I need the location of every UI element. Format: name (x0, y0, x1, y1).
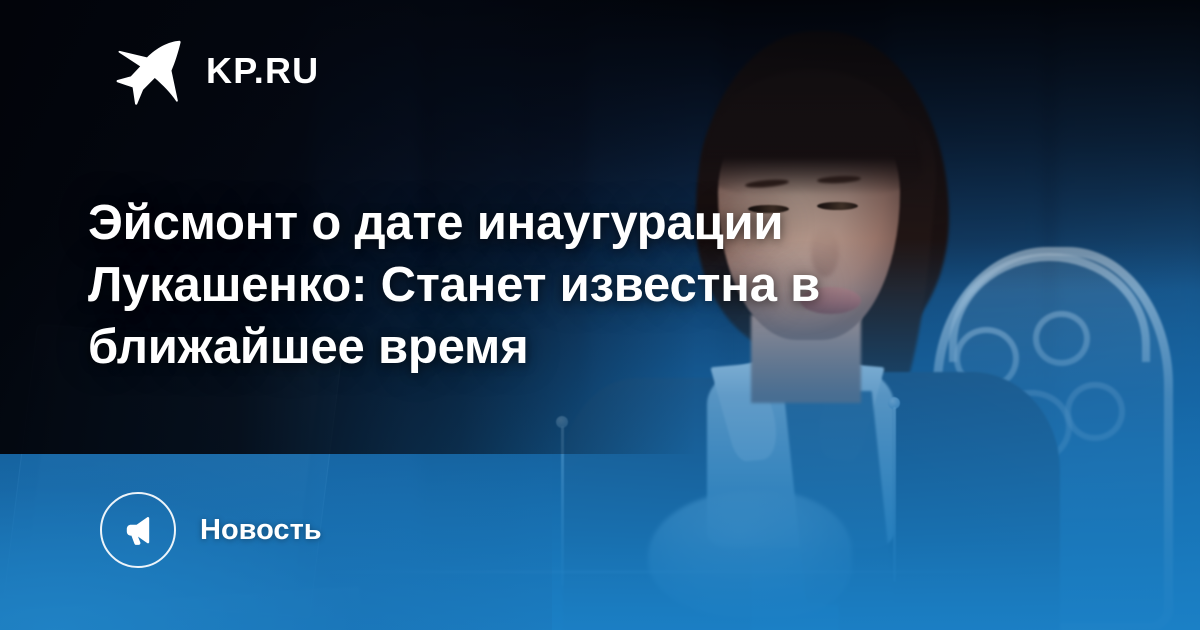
status-badge[interactable]: Новость (100, 492, 322, 568)
badge-label: Новость (200, 516, 322, 545)
megaphone-icon (118, 510, 158, 550)
card-foreground: KP.RU Эйсмонт о дате инаугурации Лукашен… (0, 0, 1200, 630)
page-title: Эйсмонт о дате инаугурации Лукашенко: Ст… (88, 192, 968, 379)
badge-ring (100, 492, 176, 568)
brand-lockup[interactable]: KP.RU (110, 35, 319, 107)
brand-name: KP.RU (206, 53, 319, 89)
swallow-bird-icon (110, 35, 184, 107)
news-share-card: KP.RU Эйсмонт о дате инаугурации Лукашен… (0, 0, 1200, 630)
